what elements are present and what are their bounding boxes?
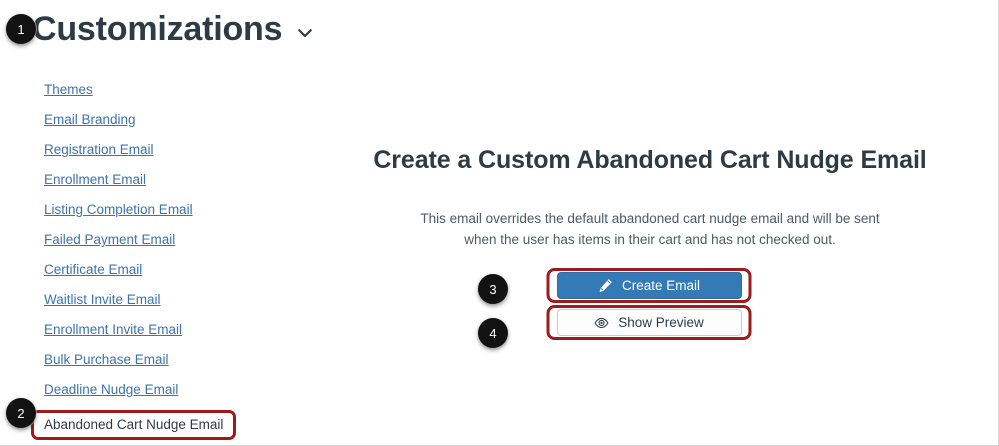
annotation-badge-2: 2: [6, 398, 36, 428]
sidebar-item-bulk-purchase-email[interactable]: Bulk Purchase Email: [44, 350, 284, 380]
customizations-page: Customizations Themes Email Branding Reg…: [0, 0, 999, 446]
sidebar-item-listing-completion-email[interactable]: Listing Completion Email: [44, 200, 284, 230]
action-buttons: Create Email Show Preview: [300, 272, 998, 336]
annotation-badge-4: 4: [478, 318, 508, 348]
sidebar-item-email-branding[interactable]: Email Branding: [44, 110, 284, 140]
sidebar-item-themes[interactable]: Themes: [44, 80, 284, 110]
sidebar-link-label[interactable]: Failed Payment Email: [44, 232, 175, 247]
page-header: Customizations: [32, 12, 314, 48]
page-title: Customizations: [32, 12, 282, 48]
sidebar-current-label: Abandoned Cart Nudge Email: [34, 412, 233, 438]
show-preview-button[interactable]: Show Preview: [557, 309, 742, 336]
eye-icon: [594, 315, 609, 330]
sidebar-link-label[interactable]: Deadline Nudge Email: [44, 382, 178, 397]
annotation-badge-3: 3: [478, 274, 508, 304]
show-preview-label: Show Preview: [618, 315, 704, 330]
main-heading: Create a Custom Abandoned Cart Nudge Ema…: [360, 145, 940, 175]
create-email-button[interactable]: Create Email: [557, 272, 742, 299]
sidebar-link-label[interactable]: Themes: [44, 82, 93, 97]
customizations-sidebar: Themes Email Branding Registration Email…: [44, 80, 284, 438]
sidebar-link-label[interactable]: Email Branding: [44, 112, 136, 127]
sidebar-item-waitlist-invite-email[interactable]: Waitlist Invite Email: [44, 290, 284, 320]
sidebar-item-abandoned-cart-nudge-email[interactable]: Abandoned Cart Nudge Email: [34, 412, 233, 438]
sidebar-link-label[interactable]: Bulk Purchase Email: [44, 352, 169, 367]
sidebar-item-registration-email[interactable]: Registration Email: [44, 140, 284, 170]
sidebar-link-label[interactable]: Enrollment Email: [44, 172, 146, 187]
sidebar-item-enrollment-email[interactable]: Enrollment Email: [44, 170, 284, 200]
show-preview-row: Show Preview: [300, 309, 998, 336]
main-intro: Create a Custom Abandoned Cart Nudge Ema…: [360, 145, 940, 251]
main-content: Create a Custom Abandoned Cart Nudge Ema…: [300, 0, 998, 446]
main-description: This email overrides the default abandon…: [405, 209, 895, 251]
sidebar-link-label[interactable]: Certificate Email: [44, 262, 142, 277]
sidebar-link-label[interactable]: Listing Completion Email: [44, 202, 193, 217]
sidebar-link-label[interactable]: Enrollment Invite Email: [44, 322, 182, 337]
sidebar-item-enrollment-invite-email[interactable]: Enrollment Invite Email: [44, 320, 284, 350]
pencil-icon: [598, 278, 613, 293]
annotation-badge-1: 1: [6, 14, 36, 44]
sidebar-item-deadline-nudge-email[interactable]: Deadline Nudge Email: [44, 380, 284, 410]
create-email-label: Create Email: [622, 278, 700, 293]
sidebar-item-failed-payment-email[interactable]: Failed Payment Email: [44, 230, 284, 260]
create-email-row: Create Email: [300, 272, 998, 299]
sidebar-item-certificate-email[interactable]: Certificate Email: [44, 260, 284, 290]
sidebar-link-label[interactable]: Registration Email: [44, 142, 154, 157]
sidebar-link-label[interactable]: Waitlist Invite Email: [44, 292, 161, 307]
